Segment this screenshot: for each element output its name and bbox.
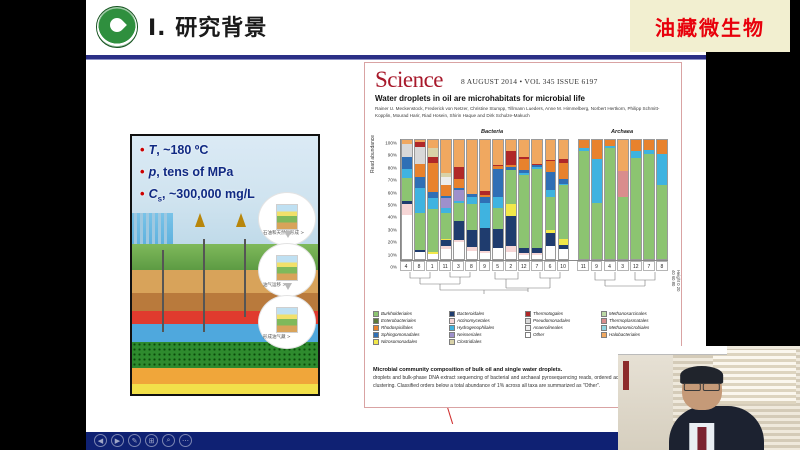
badge-label: 油藏微生物: [655, 12, 765, 41]
bar-segment: [441, 198, 451, 208]
chart-plot-area: [400, 139, 668, 261]
bar-segment: [402, 215, 412, 259]
bar-segment: [467, 230, 477, 247]
bar-segment: [493, 169, 503, 198]
condition-bullet-list: T, ~180 ºC p, tens of MPa Cs, ~300,000 m…: [140, 142, 255, 211]
bar-segment: [415, 252, 425, 259]
chart-bar: [479, 139, 491, 260]
bar-segment: [493, 229, 503, 248]
legend-swatch: [449, 325, 455, 331]
bar-segment: [605, 148, 615, 259]
bar-segment: [493, 140, 503, 165]
bar-segment: [644, 140, 654, 150]
bar-segment: [559, 249, 569, 259]
bar-segment: [467, 197, 477, 204]
bar-segment: [480, 140, 490, 191]
bullet-text-2: , ~300,000 mg/L: [162, 187, 255, 201]
x-tick-label: 9: [591, 261, 603, 271]
bar-segment: [441, 213, 451, 239]
bar-segment: [657, 140, 667, 154]
x-tick-label: 10: [557, 261, 569, 271]
bar-segment: [454, 190, 464, 201]
bar-segment: [428, 254, 438, 259]
slide-header: I. 研究背景: [86, 0, 706, 54]
bar-segment: [506, 151, 516, 165]
legend-label: Methanosarcinales: [609, 311, 647, 316]
y-tick: 0%: [390, 265, 397, 270]
x-axis-labels: 4811138952127610119431278: [400, 261, 668, 271]
legend-item: Thermoplasmatales: [601, 318, 673, 324]
x-tick-label: 2: [505, 261, 517, 271]
chart-bar: [531, 139, 543, 260]
chart-legend: BurkholderialesBacteroidalesThermotogale…: [373, 311, 673, 345]
journal-logo: Science: [375, 67, 443, 93]
legend-item: Neisseriales: [449, 332, 521, 338]
screen: I. 研究背景 油藏微生物 石油和天然气形成 >: [0, 0, 800, 450]
arrow-down-icon: [284, 283, 292, 290]
legend-label: Actinomycetales: [457, 318, 490, 323]
bar-segment: [428, 198, 438, 209]
chart-bar: [440, 139, 452, 260]
legend-item: Anaerolineales: [525, 325, 597, 331]
chart-bar: [617, 139, 629, 260]
legend-item: Sphingomonadales: [373, 332, 445, 338]
glasses-icon: [684, 383, 720, 389]
bar-segment: [579, 151, 589, 259]
bar-segment: [402, 157, 412, 169]
chart-bar: [427, 139, 439, 260]
bar-segment: [631, 140, 641, 151]
bar-segment: [402, 169, 412, 179]
x-tick-label: 11: [577, 261, 589, 271]
legend-label: Anaerolineales: [533, 325, 563, 330]
legend-item: Methanosarcinales: [601, 311, 673, 317]
bar-segment: [480, 253, 490, 259]
legend-item: Burkholderiales: [373, 311, 445, 317]
legend-item: Halobacteriales: [601, 332, 673, 338]
legend-item: Rhodospirillales: [373, 325, 445, 331]
y-tick: 70%: [388, 178, 397, 183]
bar-segment: [532, 169, 542, 249]
legend-swatch: [525, 311, 531, 317]
legend-swatch: [449, 311, 455, 317]
legend-swatch: [449, 332, 455, 338]
chart-bar: [453, 139, 465, 260]
pen-icon[interactable]: ✎: [128, 434, 141, 447]
legend-swatch: [601, 325, 607, 331]
list-item: T, ~180 ºC: [140, 142, 255, 157]
legend-label: Clostridiales: [457, 339, 482, 344]
toolbar-controls: ◀▶✎⊞⌕⋯: [94, 434, 192, 447]
bar-segment: [454, 179, 464, 187]
y-axis-label: Read abundance: [370, 135, 376, 173]
bar-segment: [618, 140, 628, 171]
presenter-body: [669, 406, 764, 450]
bar-segment: [415, 164, 425, 177]
legend-swatch: [373, 325, 379, 331]
y-tick: 90%: [388, 153, 397, 158]
x-tick-label: 4: [400, 261, 412, 271]
legend-swatch: [525, 318, 531, 324]
x-tick-label: 5: [492, 261, 504, 271]
x-tick-label: 3: [452, 261, 464, 271]
x-tick-label: 7: [531, 261, 543, 271]
legend-label: Thermotogales: [533, 311, 563, 316]
legend-swatch: [373, 318, 379, 324]
legend-label: Burkholderiales: [381, 311, 412, 316]
page-title: I. 研究背景: [148, 10, 267, 42]
legend-item: Nitrosomonadales: [373, 339, 445, 345]
legend-item: Thermotogales: [525, 311, 597, 317]
bar-segment: [559, 163, 569, 180]
bar-segment: [402, 178, 412, 201]
x-tick-label: 4: [604, 261, 616, 271]
bar-segment: [618, 197, 628, 259]
y-tick: 10%: [388, 252, 397, 257]
chart-bar: [518, 139, 530, 260]
chart-bar: [545, 139, 557, 260]
y-tick: 80%: [388, 165, 397, 170]
legend-item: Pseudomonadales: [525, 318, 597, 324]
bar-segment: [631, 151, 641, 158]
y-tick: 30%: [388, 227, 397, 232]
bar-segment: [546, 140, 556, 160]
chart-bar: [591, 139, 603, 260]
article-authors: Rainer U. Meckenstock, Frederick von Net…: [375, 105, 675, 119]
bar-segment: [415, 213, 425, 250]
bar-segment: [467, 251, 477, 259]
bar-segment: [657, 154, 667, 185]
arrow-down-icon: [284, 231, 292, 238]
legend-label: Nitrosomonadales: [381, 339, 417, 344]
x-tick-label: 9: [479, 261, 491, 271]
chart-bar: [401, 139, 413, 260]
status-badge: 油藏微生物: [630, 0, 790, 52]
slide-canvas: I. 研究背景 油藏微生物 石油和天然气形成 >: [86, 0, 706, 432]
bar-segment: [546, 197, 556, 230]
legend-item: Other: [525, 332, 597, 338]
bar-segment: [402, 144, 412, 157]
legend-label: Sphingomonadales: [381, 332, 420, 337]
legend-swatch: [525, 325, 531, 331]
bar-segment: [493, 208, 503, 229]
y-tick: 50%: [388, 203, 397, 208]
bar-segment: [506, 216, 516, 246]
bar-segment: [592, 203, 602, 259]
bar-segment: [441, 185, 451, 196]
group-separator: [571, 139, 577, 260]
bar-segment: [506, 170, 516, 205]
legend-label: Halobacteriales: [609, 332, 640, 337]
bar-segment: [441, 140, 451, 173]
bar-segment: [493, 248, 503, 259]
reservoir-illustration: 石油和天然气形成 > 油气运移 > 形成油气藏 > T, ~180 ºC p, …: [130, 134, 320, 396]
legend-swatch: [373, 332, 379, 338]
bar-segment: [532, 255, 542, 259]
legend-label: Enterobacteriales: [381, 318, 416, 323]
bar-segment: [428, 148, 438, 156]
bar-segment: [467, 140, 477, 194]
group-separator: [570, 261, 576, 271]
article-title: Water droplets in oil are microhabitats …: [375, 94, 675, 103]
legend-label: Rhodospirillales: [381, 325, 413, 330]
dendrogram: [400, 272, 668, 294]
chart-bar: [558, 139, 570, 260]
x-tick-label: 3: [617, 261, 629, 271]
chart-bar: [604, 139, 616, 260]
bar-segment: [415, 188, 425, 213]
bar-segment: [546, 190, 556, 197]
chart-bar: [466, 139, 478, 260]
x-tick-label: 12: [518, 261, 530, 271]
legend-item: Methanomicrobiales: [601, 325, 673, 331]
bar-segment: [519, 140, 529, 157]
chart-bar: [505, 139, 517, 260]
presenter-webcam: [618, 346, 800, 450]
bar-segment: [546, 233, 556, 246]
bar-segment: [519, 255, 529, 259]
bar-segment: [480, 228, 490, 251]
bar-segment: [559, 185, 569, 239]
list-item: Cs, ~300,000 mg/L: [140, 186, 255, 204]
legend-swatch: [525, 332, 531, 338]
chart-bar: [578, 139, 590, 260]
bar-segment: [402, 204, 412, 215]
bar-segment: [644, 154, 654, 259]
bar-segment: [657, 185, 667, 259]
legend-label: Bacteroidales: [457, 311, 484, 316]
search-icon[interactable]: ⌕: [162, 434, 175, 447]
bar-segment: [454, 203, 464, 221]
legend-item: Enterobacteriales: [373, 318, 445, 324]
bar-segment: [454, 140, 464, 167]
bar-segment: [480, 203, 490, 228]
bar-segment: [631, 158, 641, 259]
x-tick-label: 8: [413, 261, 425, 271]
bar-segment: [415, 147, 425, 164]
legend-swatch: [601, 332, 607, 338]
legend-swatch: [373, 311, 379, 317]
bar-segment: [428, 209, 438, 252]
x-tick-label: 6: [544, 261, 556, 271]
bullet-text-1: , tens of MPa: [156, 165, 233, 179]
bar-segment: [559, 140, 569, 159]
y-tick: 100%: [385, 141, 397, 146]
legend-item: Hydrogenophilales: [449, 325, 521, 331]
bar-segment: [441, 177, 451, 185]
bar-segment: [441, 249, 451, 259]
bar-segment: [454, 242, 464, 259]
chart-bar: [492, 139, 504, 260]
x-tick-label: 12: [630, 261, 642, 271]
list-item: p, tens of MPa: [140, 164, 255, 179]
journal-issue-meta: 8 AUGUST 2014 • VOL 345 ISSUE 6197: [461, 77, 598, 86]
presentation-toolbar: ◀▶✎⊞⌕⋯: [86, 432, 706, 450]
chart-bar: [414, 139, 426, 260]
x-tick-label: 8: [465, 261, 477, 271]
legend-label: Pseudomonadales: [533, 318, 570, 323]
legend-item: Actinomycetales: [449, 318, 521, 324]
bar-segment: [618, 171, 628, 197]
bar-segment: [546, 246, 556, 259]
bar-segment: [519, 159, 529, 170]
stacked-bar-chart: Read abundance 0%10%20%30%40%50%60%70%80…: [371, 125, 677, 293]
bar-segment: [592, 140, 602, 159]
bar-segment: [506, 204, 516, 216]
height-scale-label: Height 0 20 40 60 80: [671, 270, 681, 293]
grid-icon[interactable]: ⊞: [145, 434, 158, 447]
y-tick: 60%: [388, 190, 397, 195]
legend-swatch: [601, 318, 607, 324]
callout-label-2: 油气运移 >: [263, 283, 286, 289]
play-icon[interactable]: ▶: [111, 434, 124, 447]
y-axis-ticks: 0%10%20%30%40%50%60%70%80%90%100%: [377, 131, 397, 261]
bar-segment: [532, 140, 542, 164]
legend-item: Clostridiales: [449, 339, 521, 345]
institute-logo-icon: [96, 6, 138, 48]
header-divider-thin: [86, 59, 706, 60]
chart-bar: [643, 139, 655, 260]
x-tick-label: 11: [439, 261, 451, 271]
chart-bar: [656, 139, 668, 260]
legend-label: Thermoplasmatales: [609, 318, 649, 323]
chart-bar: [630, 139, 642, 260]
bar-segment: [428, 140, 438, 148]
y-tick: 20%: [388, 240, 397, 245]
callout-accumulation: 形成油气藏 >: [259, 296, 315, 348]
bar-segment: [579, 140, 589, 148]
legend-label: Neisseriales: [457, 332, 482, 337]
bar-segment: [546, 172, 556, 190]
bar-segment: [467, 204, 477, 230]
rewind-icon[interactable]: ◀: [94, 434, 107, 447]
bar-segment: [415, 177, 425, 188]
bar-segment: [592, 159, 602, 203]
bar-segment: [506, 252, 516, 259]
x-tick-label: 8: [656, 261, 668, 271]
legend-swatch: [449, 339, 455, 345]
x-tick-label: 1: [426, 261, 438, 271]
bar-segment: [454, 167, 464, 179]
bar-segment: [546, 161, 556, 172]
legend-label: Other: [533, 332, 544, 337]
y-tick: 40%: [388, 215, 397, 220]
group-label-bacteria: Bacteria: [481, 129, 503, 135]
bar-segment: [454, 221, 464, 240]
more-icon[interactable]: ⋯: [179, 434, 192, 447]
bar-segment: [519, 175, 529, 249]
legend-label: Methanomicrobiales: [609, 325, 649, 330]
legend-swatch: [601, 311, 607, 317]
legend-swatch: [449, 318, 455, 324]
x-tick-label: 7: [643, 261, 655, 271]
callout-label-3: 形成油气藏 >: [263, 335, 291, 341]
bar-segment: [428, 163, 438, 193]
bullet-text-0: , ~180 ºC: [156, 143, 208, 157]
legend-label: Hydrogenophilales: [457, 325, 494, 330]
legend-swatch: [373, 339, 379, 345]
bar-segment: [493, 197, 503, 208]
bar-segment: [506, 140, 516, 151]
legend-item: Bacteroidales: [449, 311, 521, 317]
group-label-archaea: Archaea: [611, 129, 633, 135]
